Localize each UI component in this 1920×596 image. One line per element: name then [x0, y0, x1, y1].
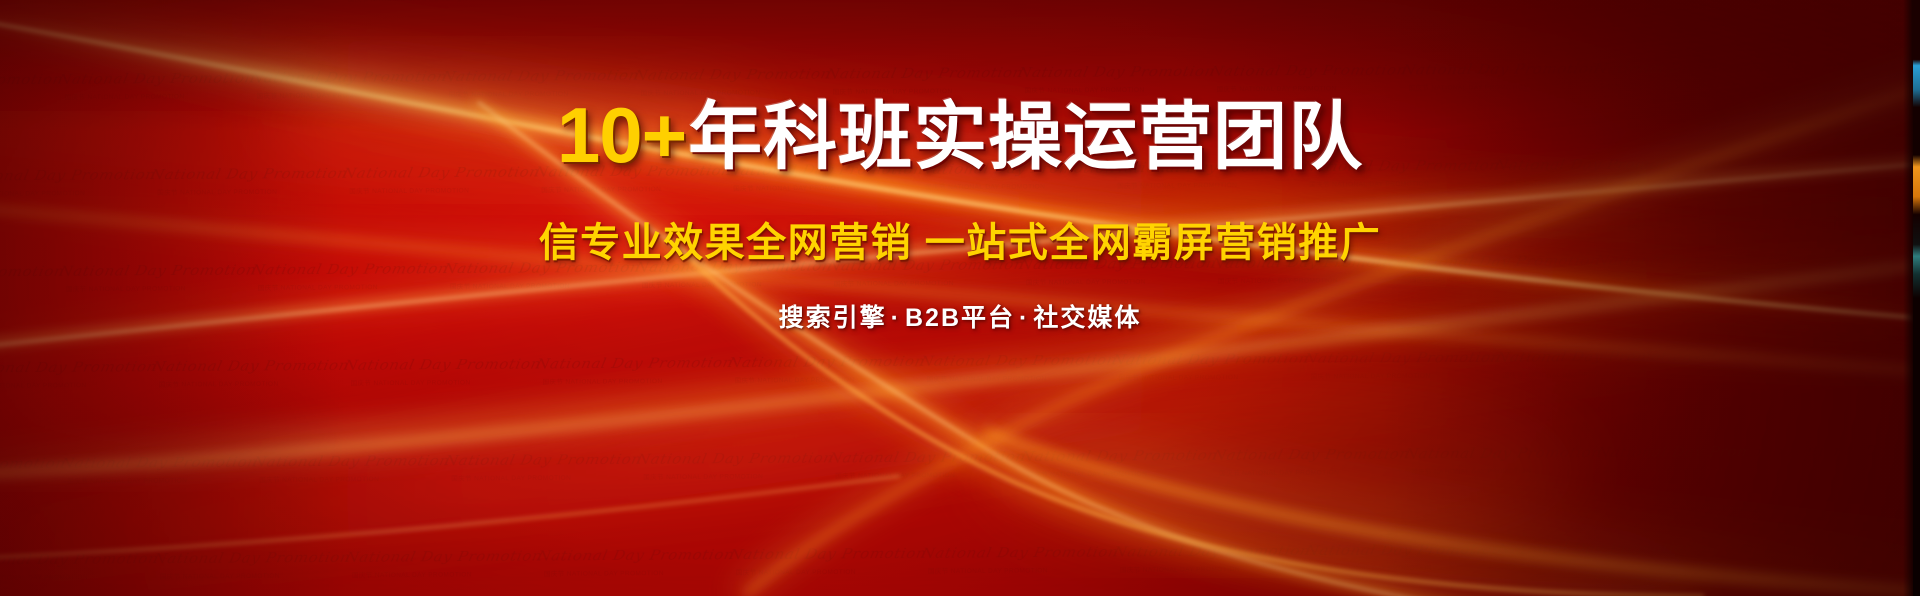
tagline-item-b2b-platform: B2B平台: [905, 304, 1015, 332]
tagline-separator-1: ·: [887, 304, 905, 332]
tagline-item-search-engine: 搜索引擎: [779, 304, 887, 332]
promo-banner: National Day Promotion国庆节 NATIONAL DAY P…: [0, 0, 1920, 596]
tagline-item-social-media: 社交媒体: [1033, 304, 1141, 332]
headline-text: 年科班实操运营团队: [688, 100, 1363, 174]
edge-shadow: [1903, 0, 1913, 596]
banner-content: 10+年科班实操运营团队 信专业效果全网营销 一站式全网霸屏营销推广 搜索引擎·…: [0, 0, 1920, 596]
tagline-separator-2: ·: [1015, 304, 1033, 332]
next-slide-sliver[interactable]: [1913, 0, 1920, 596]
headline-number: 10+: [557, 96, 686, 174]
headline: 10+年科班实操运营团队: [557, 96, 1363, 174]
subheadline: 信专业效果全网营销 一站式全网霸屏营销推广: [539, 210, 1382, 268]
tagline: 搜索引擎·B2B平台·社交媒体: [779, 298, 1142, 334]
